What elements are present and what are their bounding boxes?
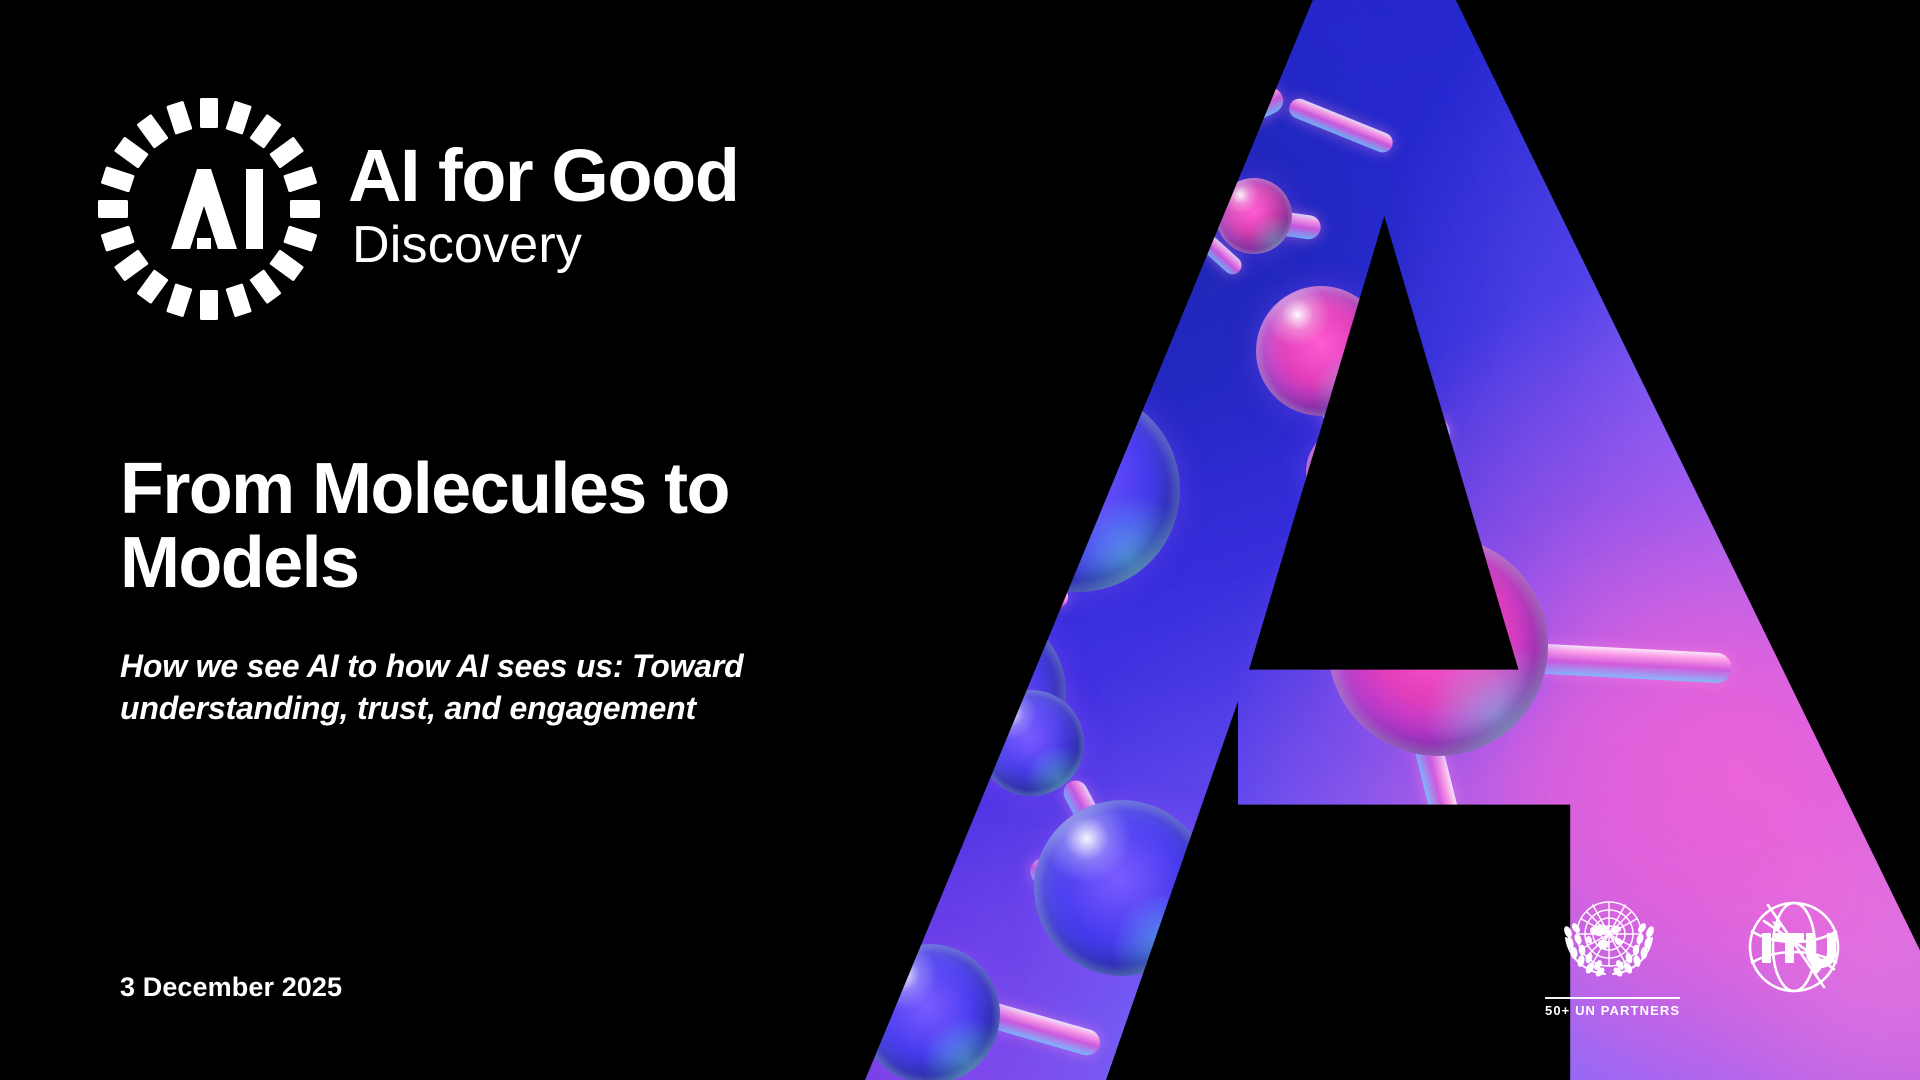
molecule-bond	[1070, 269, 1131, 401]
brand-wordmark: AI for Good Discovery	[348, 98, 738, 273]
brand-lockup: AI for Good Discovery	[98, 98, 738, 320]
page-title: From Molecules to Models	[120, 452, 840, 600]
molecule-atom	[882, 368, 978, 464]
molecule-atom	[1224, 920, 1384, 1080]
molecule-atom	[898, 620, 954, 676]
molecule-bond	[981, 504, 1072, 612]
itu-globe-icon	[1738, 891, 1850, 1003]
brand-title: AI for Good	[348, 142, 738, 210]
un-caption: 50+ UN PARTNERS	[1545, 1003, 1680, 1018]
molecule-atom	[842, 484, 964, 606]
molecule-bond	[1286, 96, 1395, 156]
un-caption-rule	[1545, 997, 1680, 999]
left-text-column: AI for Good Discovery From Molecules to …	[0, 0, 860, 1080]
molecule-atom	[1066, 140, 1178, 252]
un-emblem-icon	[1545, 890, 1673, 994]
molecule-atom	[860, 944, 1000, 1080]
molecule-atom	[1306, 426, 1398, 518]
event-date: 3 December 2025	[120, 972, 342, 1003]
molecule-atom	[1098, 88, 1164, 154]
molecule-bond	[1306, 409, 1457, 622]
ai-for-good-circular-logo	[98, 98, 320, 320]
molecule-atom	[1256, 286, 1386, 416]
slide-root: 50+ UN PARTNERS	[0, 0, 1920, 1080]
molecule-bond	[1132, 83, 1287, 177]
molecule-atom	[976, 388, 1180, 592]
molecule-atom	[1034, 800, 1210, 976]
brand-subtitle: Discovery	[352, 218, 738, 273]
page-subtitle: How we see AI to how AI sees us: Toward …	[120, 645, 840, 729]
itu-logo	[1738, 891, 1850, 1003]
molecule-atom	[1216, 178, 1292, 254]
molecule-bond	[964, 392, 1079, 488]
ai-for-good-logo-icon	[98, 98, 320, 320]
molecule-atom	[978, 690, 1084, 796]
partner-logos: 50+ UN PARTNERS	[1545, 890, 1850, 1018]
un-emblem-logo: 50+ UN PARTNERS	[1545, 890, 1680, 1018]
molecule-atom	[1380, 982, 1500, 1080]
molecule-atom	[1328, 536, 1548, 756]
